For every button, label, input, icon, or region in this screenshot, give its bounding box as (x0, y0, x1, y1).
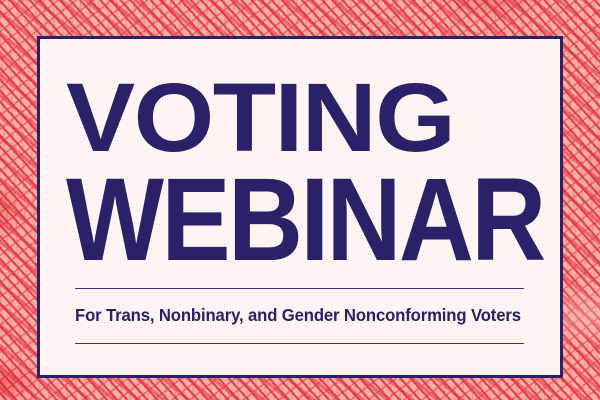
framed-card: VOTING WEBINAR For Trans, Nonbinary, and… (37, 36, 563, 378)
divider-rule-top (75, 288, 524, 289)
divider-rule-bottom (75, 343, 524, 344)
voting-webinar-poster: VOTING WEBINAR For Trans, Nonbinary, and… (0, 0, 600, 400)
card-content: VOTING WEBINAR For Trans, Nonbinary, and… (40, 39, 560, 375)
subtitle: For Trans, Nonbinary, and Gender Nonconf… (75, 305, 519, 326)
headline-line-1: VOTING (66, 69, 577, 166)
headline-line-2: WEBINAR (66, 161, 487, 279)
